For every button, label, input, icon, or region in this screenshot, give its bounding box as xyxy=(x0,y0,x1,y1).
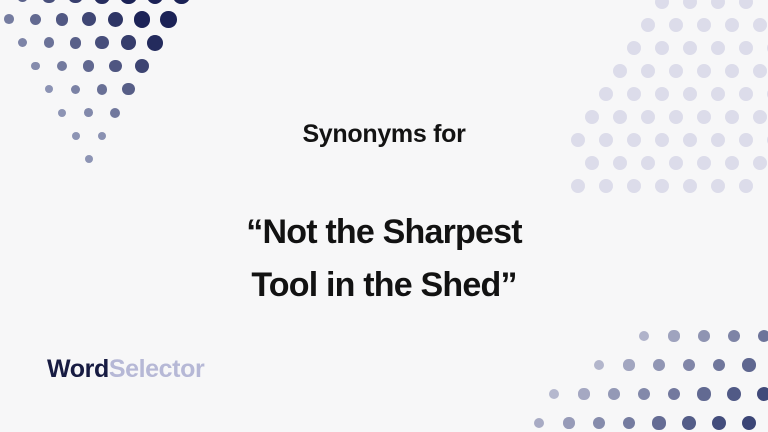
kicker-text: Synonyms for xyxy=(302,121,465,149)
brand-logo-word: Word xyxy=(47,355,109,383)
brand-logo[interactable]: WordSelector xyxy=(47,357,204,382)
page-title-line-1: “Not the Sharpest xyxy=(246,206,521,259)
brand-logo-selector: Selector xyxy=(109,355,204,383)
page-title: “Not the Sharpest Tool in the Shed” xyxy=(246,206,521,311)
slide-canvas: Synonyms for “Not the Sharpest Tool in t… xyxy=(0,0,768,432)
page-title-line-2: Tool in the Shed” xyxy=(246,259,521,312)
